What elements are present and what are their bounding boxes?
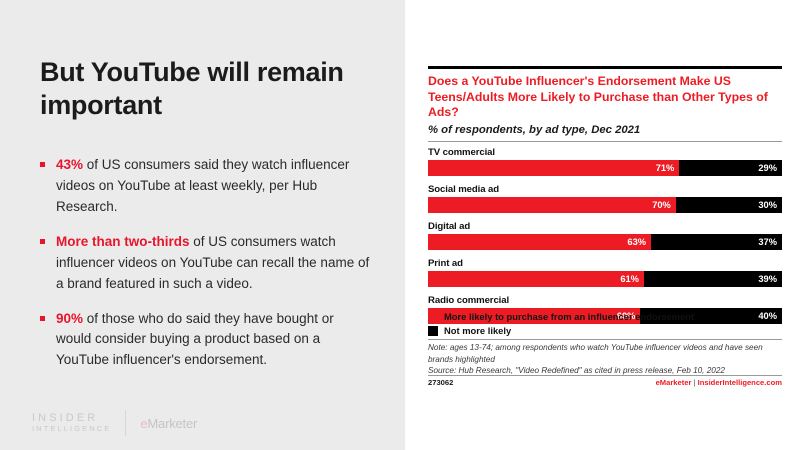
chart-note: Note: ages 13-74; among respondents who …	[428, 342, 782, 365]
legend-swatch-black-icon	[428, 326, 438, 336]
bar-category-label: Print ad	[428, 258, 782, 269]
chart-subtitle: % of respondents, by ad type, Dec 2021	[428, 124, 640, 136]
list-item: More than two-thirds of US consumers wat…	[40, 232, 370, 295]
page-title: But YouTube will remain important	[40, 56, 360, 122]
bar-segment-more-likely: 61%	[428, 271, 644, 287]
chart-title: Does a YouTube Influencer's Endorsement …	[428, 74, 780, 121]
table-row: Print ad 61% 39%	[428, 258, 782, 287]
chart-brand-emarketer: eMarketer	[656, 378, 692, 387]
legend-swatch-red-icon	[428, 312, 438, 322]
list-item: 43% of US consumers said they watch infl…	[40, 155, 370, 218]
bar-category-label: Radio commercial	[428, 295, 782, 306]
bar-segment-not-more-likely: 39%	[644, 271, 782, 287]
bar-segment-more-likely: 70%	[428, 197, 676, 213]
logo-divider	[125, 410, 126, 436]
bar-segment-more-likely: 63%	[428, 234, 651, 250]
chart-footer: 273062 eMarketer|InsiderIntelligence.com	[428, 378, 782, 387]
bullet-marker-icon	[40, 316, 45, 321]
bar-track: 70% 30%	[428, 197, 782, 213]
footer-logos: INSIDER INTELLIGENCE eMarketer	[32, 410, 197, 436]
table-row: TV commercial 71% 29%	[428, 147, 782, 176]
chart-bars: TV commercial 71% 29% Social media ad 70…	[428, 147, 782, 332]
chart-notes: Note: ages 13-74; among respondents who …	[428, 342, 782, 377]
bar-segment-not-more-likely: 29%	[679, 160, 782, 176]
slide: But YouTube will remain important 43% of…	[0, 0, 800, 450]
chart-brand-site[interactable]: InsiderIntelligence.com	[698, 378, 782, 387]
left-content-panel: But YouTube will remain important 43% of…	[0, 0, 405, 450]
legend-label: Not more likely	[444, 325, 511, 336]
bullet-list: 43% of US consumers said they watch infl…	[40, 155, 370, 385]
emarketer-logo-text: Marketer	[147, 416, 197, 431]
bullet-lead: More than two-thirds	[56, 234, 190, 249]
insider-intelligence-logo: INSIDER INTELLIGENCE	[32, 412, 111, 434]
bar-category-label: Social media ad	[428, 184, 782, 195]
legend-item-not-more-likely: Not more likely	[428, 325, 694, 336]
bullet-marker-icon	[40, 162, 45, 167]
bar-segment-not-more-likely: 37%	[651, 234, 782, 250]
chart-legend: More likely to purchase from an influenc…	[428, 311, 694, 339]
bullet-lead: 90%	[56, 311, 83, 326]
bar-category-label: TV commercial	[428, 147, 782, 158]
chart-panel: Does a YouTube Influencer's Endorsement …	[428, 0, 782, 450]
bullet-marker-icon	[40, 239, 45, 244]
bullet-text: of those who do said they have bought or…	[56, 311, 334, 368]
legend-label: More likely to purchase from an influenc…	[444, 311, 694, 322]
bar-track: 61% 39%	[428, 271, 782, 287]
table-row: Digital ad 63% 37%	[428, 221, 782, 250]
bullet-text: of US consumers said they watch influenc…	[56, 157, 349, 214]
bullet-lead: 43%	[56, 157, 83, 172]
bar-segment-more-likely: 71%	[428, 160, 679, 176]
insider-logo-line2: INTELLIGENCE	[32, 425, 111, 434]
list-item: 90% of those who do said they have bough…	[40, 309, 370, 372]
chart-subtitle-rule	[428, 141, 782, 142]
emarketer-logo: eMarketer	[140, 416, 197, 431]
chart-footer-rule	[428, 375, 782, 376]
chart-note-rule	[428, 339, 782, 340]
bar-track: 63% 37%	[428, 234, 782, 250]
table-row: Social media ad 70% 30%	[428, 184, 782, 213]
legend-item-more-likely: More likely to purchase from an influenc…	[428, 311, 694, 322]
chart-id: 273062	[428, 378, 453, 387]
bar-segment-not-more-likely: 30%	[676, 197, 782, 213]
chart-top-rule	[428, 66, 782, 69]
chart-brand: eMarketer|InsiderIntelligence.com	[656, 378, 782, 387]
bar-track: 71% 29%	[428, 160, 782, 176]
bar-category-label: Digital ad	[428, 221, 782, 232]
